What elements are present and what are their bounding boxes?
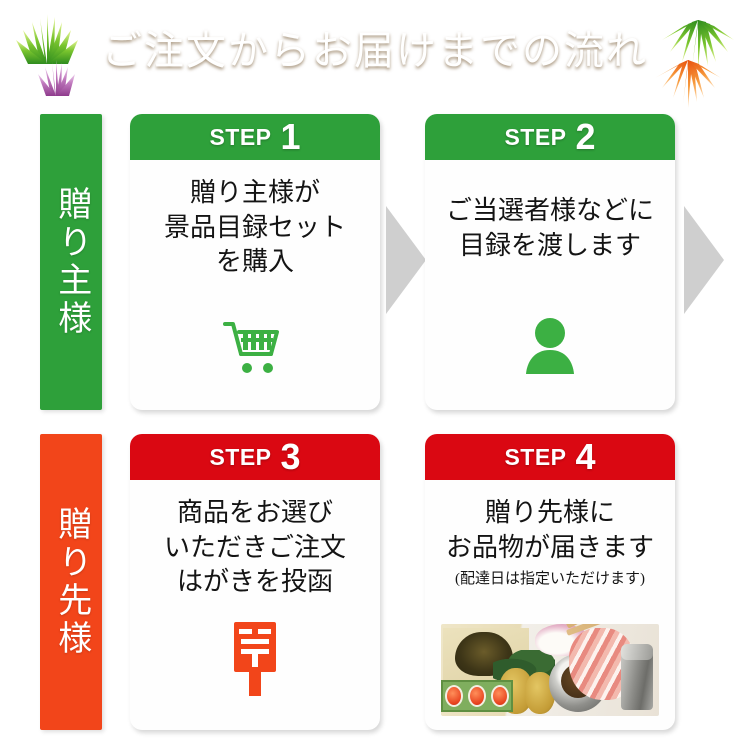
step-3-header: STEP 3 [130, 434, 380, 480]
step-2-line-1: ご当選者様などに [446, 194, 654, 229]
product-photo-composition [441, 624, 659, 716]
step-4-number: 4 [576, 439, 596, 475]
step-card-1[interactable]: STEP 1 贈り主様が 景品目録セット を購入 [130, 114, 380, 410]
shopping-cart-icon [223, 318, 287, 376]
step-3-word: STEP [209, 444, 271, 471]
product-photo [441, 624, 659, 716]
step-4-header: STEP 4 [425, 434, 675, 480]
photo-melon-box [441, 680, 513, 712]
step-2-text: ご当選者様などに 目録を渡します [446, 194, 654, 263]
step-2-icon-wrap [519, 314, 581, 376]
step-1-word: STEP [209, 124, 271, 151]
photo-melon-2 [468, 685, 486, 707]
step-1-line-1: 贈り主様が [164, 176, 346, 211]
photo-shaker-cap [621, 644, 653, 660]
side-label-sender: 贈り主様 [40, 114, 102, 410]
side-label-recipient-text: 贈り先様 [49, 506, 93, 658]
person-icon [519, 314, 581, 376]
arrow-step2-continue [684, 206, 724, 314]
step-3-number: 3 [281, 439, 301, 475]
step-4-text: 贈り先様に お品物が届きます [446, 496, 654, 565]
step-card-3[interactable]: STEP 3 商品をお選び いただきご注文 はがきを投函 [130, 434, 380, 730]
step-card-4[interactable]: STEP 4 贈り先様に お品物が届きます (配達日は指定いただけます) [425, 434, 675, 730]
step-3-line-3: はがきを投函 [164, 565, 346, 600]
step-1-number: 1 [281, 119, 301, 155]
row-recipient: 贈り先様 STEP 3 商品をお選び いただきご注文 はがきを投函 [0, 430, 750, 740]
step-1-line-3: を購入 [164, 245, 346, 280]
step-4-line-2: お品物が届きます [446, 531, 654, 566]
step-2-header: STEP 2 [425, 114, 675, 160]
photo-melon-1 [445, 685, 463, 707]
step-3-icon-wrap [228, 622, 282, 696]
step-2-number: 2 [576, 119, 596, 155]
step-2-line-2: 目録を渡します [446, 229, 654, 264]
step-3-line-2: いただきご注文 [164, 531, 346, 566]
postbox-icon [228, 622, 282, 696]
step-2-body: ご当選者様などに 目録を渡します [425, 160, 675, 410]
step-3-text: 商品をお選び いただきご注文 はがきを投函 [164, 496, 346, 600]
step-1-text: 贈り主様が 景品目録セット を購入 [164, 176, 346, 280]
photo-melon-3 [491, 685, 509, 707]
step-1-icon-wrap [223, 318, 287, 376]
banner-title: ご注文からお届けまでの流れ [0, 0, 750, 94]
row-sender: 贈り主様 STEP 1 贈り主様が 景品目録セット を購入 [0, 110, 750, 420]
step-1-line-2: 景品目録セット [164, 211, 346, 246]
step-1-body: 贈り主様が 景品目録セット を購入 [130, 160, 380, 410]
step-card-2[interactable]: STEP 2 ご当選者様などに 目録を渡します [425, 114, 675, 410]
step-2-word: STEP [504, 124, 566, 151]
side-label-sender-text: 贈り主様 [49, 186, 93, 338]
step-1-header: STEP 1 [130, 114, 380, 160]
side-label-recipient: 贈り先様 [40, 434, 102, 730]
step-4-line-1: 贈り先様に [446, 496, 654, 531]
step-4-word: STEP [504, 444, 566, 471]
arrow-step1-to-step2 [386, 206, 426, 314]
step-3-body: 商品をお選び いただきご注文 はがきを投函 [130, 480, 380, 730]
step-3-line-1: 商品をお選び [164, 496, 346, 531]
step-4-body: 贈り先様に お品物が届きます (配達日は指定いただけます) [425, 480, 675, 730]
step-4-note: (配達日は指定いただけます) [455, 567, 645, 588]
header-banner: ご注文からお届けまでの流れ [0, 0, 750, 96]
